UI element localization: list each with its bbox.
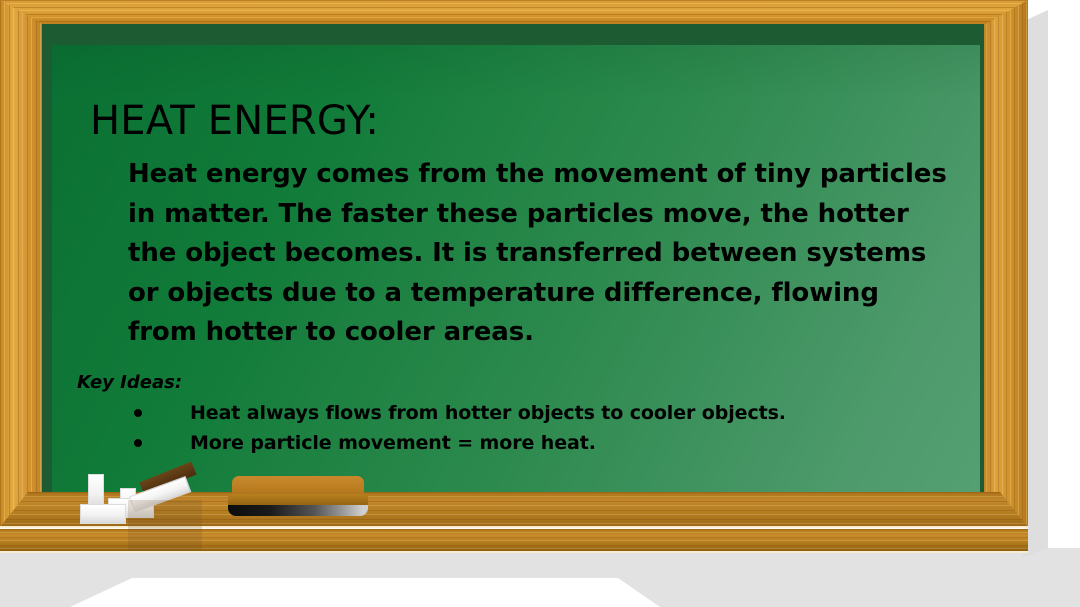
- list-item-label: More particle movement = more heat.: [190, 432, 596, 454]
- key-ideas-list: Heat always flows from hotter objects to…: [118, 398, 958, 458]
- chalk-shadow: [128, 500, 202, 550]
- frame-rail-left: [0, 0, 46, 552]
- chalkboard-surface: HEAT ENERGY: Heat energy comes from the …: [42, 24, 984, 494]
- key-ideas-label: Key Ideas:: [77, 372, 182, 393]
- body-paragraph: Heat energy comes from the movement of t…: [128, 155, 948, 353]
- floor-surface: [0, 548, 1080, 607]
- slide-canvas: HEAT ENERGY: Heat energy comes from the …: [0, 0, 1080, 607]
- bullet-dot-icon: [134, 439, 142, 447]
- chalkboard-eraser: [228, 476, 368, 516]
- bullet-dot-icon: [134, 409, 142, 417]
- chalkboard-frame: HEAT ENERGY: Heat energy comes from the …: [0, 0, 1028, 552]
- chalkboard-writing-area: HEAT ENERGY: Heat energy comes from the …: [52, 45, 980, 494]
- frame-rail-top: [0, 0, 1028, 26]
- eraser-wood-body: [232, 476, 364, 507]
- slide-content: HEAT ENERGY: Heat energy comes from the …: [52, 45, 984, 494]
- chalk-stick: [80, 504, 126, 524]
- page-title: HEAT ENERGY:: [90, 99, 379, 143]
- list-item-label: Heat always flows from hotter objects to…: [190, 402, 786, 424]
- frame-rail-right: [982, 0, 1028, 552]
- list-item: Heat always flows from hotter objects to…: [118, 398, 958, 428]
- eraser-felt-pad: [228, 505, 368, 516]
- list-item: More particle movement = more heat.: [118, 428, 958, 458]
